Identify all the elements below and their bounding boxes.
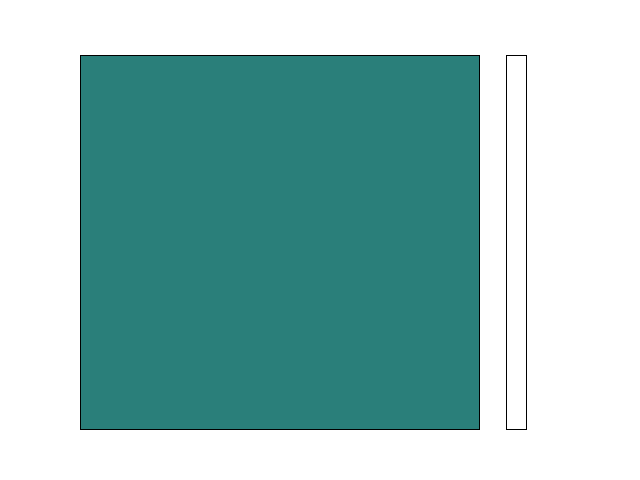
ionogram-figure [0, 0, 640, 480]
plot-area [80, 55, 480, 430]
colorbar [506, 55, 527, 430]
ionogram-heatmap [81, 56, 480, 430]
colorbar-gradient [507, 56, 526, 429]
